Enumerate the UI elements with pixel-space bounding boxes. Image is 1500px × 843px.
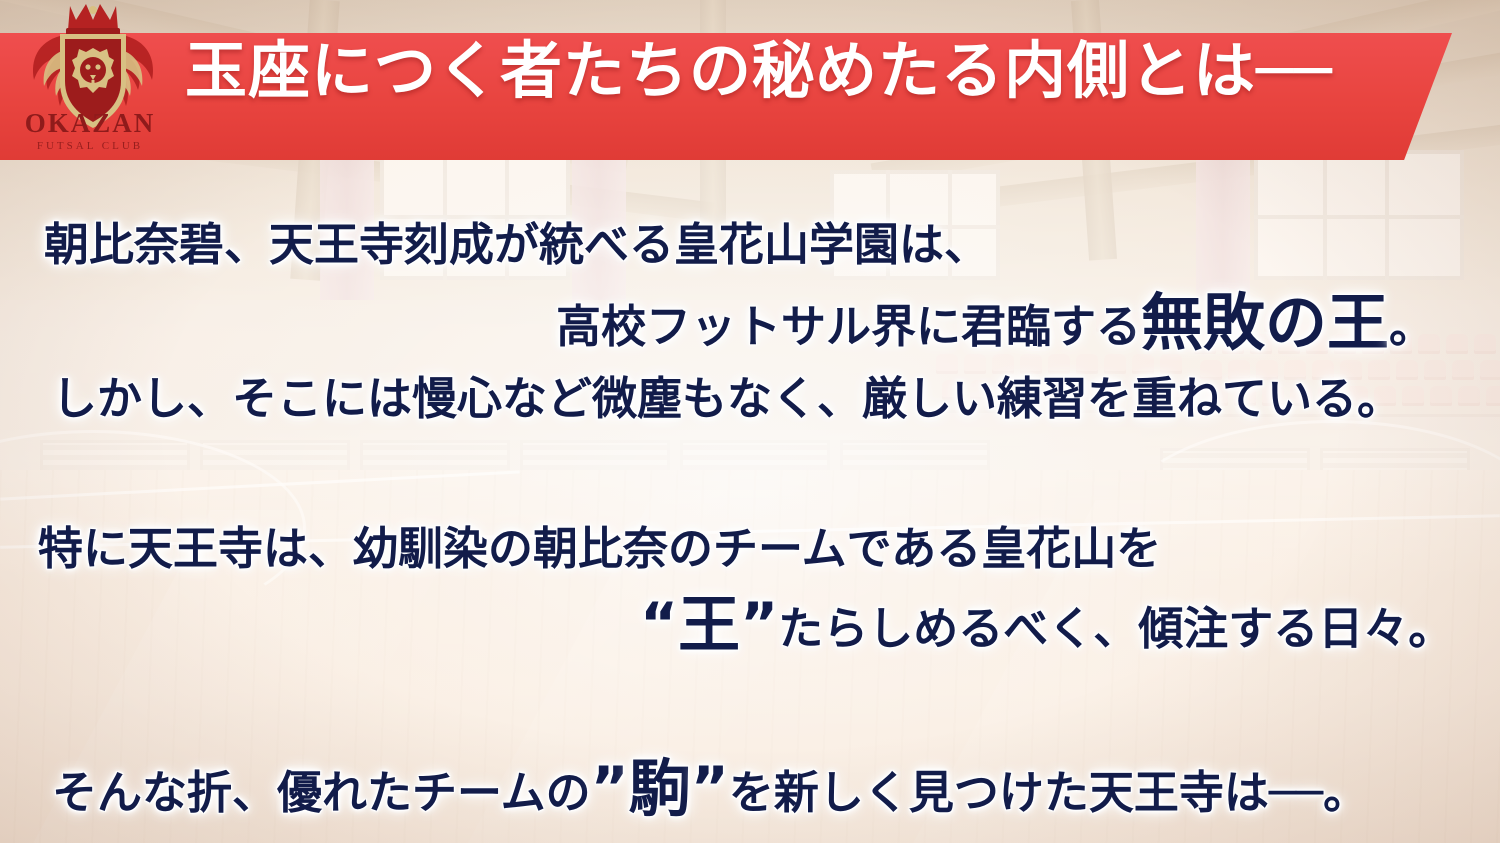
paragraph1-line2-pre: 高校フットサル界に君臨する: [556, 300, 1141, 353]
paragraph2-line2: “王”たらしめるべく、傾注する日々。: [640, 574, 1453, 664]
paragraph1-line2-emphasis: 無敗の王: [1141, 286, 1389, 359]
logo-wordmark: OKAZAN: [10, 108, 170, 139]
paragraph1-line3: しかし、そこには慢心など微塵もなく、厳しい練習を重ねている。: [52, 362, 1402, 427]
paragraph1-line2: 高校フットサル界に君臨する無敗の王。: [556, 272, 1434, 362]
paragraph3-emphasis: 駒: [629, 752, 691, 825]
paragraph2-line1: 特に天王寺は、幼馴染の朝比奈のチームである皇花山を: [38, 512, 1161, 577]
paragraph3-line1: そんな折、優れたチームの”駒”を新しく見つけた天王寺は──。: [52, 738, 1368, 828]
paragraph3-pre: そんな折、優れたチームの: [52, 766, 591, 819]
page-title: 玉座につく者たちの秘めたる内側とは──: [185, 40, 1333, 102]
paragraph2-line2-emphasis: 王: [678, 588, 740, 661]
quote-open: “: [640, 590, 678, 658]
quote-close: ”: [740, 590, 778, 658]
paragraph1-line1: 朝比奈碧、天王寺刻成が統べる皇花山学園は、: [44, 208, 989, 273]
paragraph1-line2-post: 。: [1389, 300, 1434, 353]
quote-open: ”: [591, 754, 629, 822]
quote-close: ”: [691, 754, 729, 822]
paragraph3-post: を新しく見つけた天王寺は──。: [729, 766, 1368, 819]
paragraph2-line2-post: たらしめるべく、傾注する日々。: [778, 602, 1453, 655]
slide-stage: 玉座につく者たちの秘めたる内側とは──: [0, 0, 1500, 843]
logo-subtitle: FUTSAL CLUB: [10, 140, 170, 152]
crown-icon: [66, 4, 120, 36]
